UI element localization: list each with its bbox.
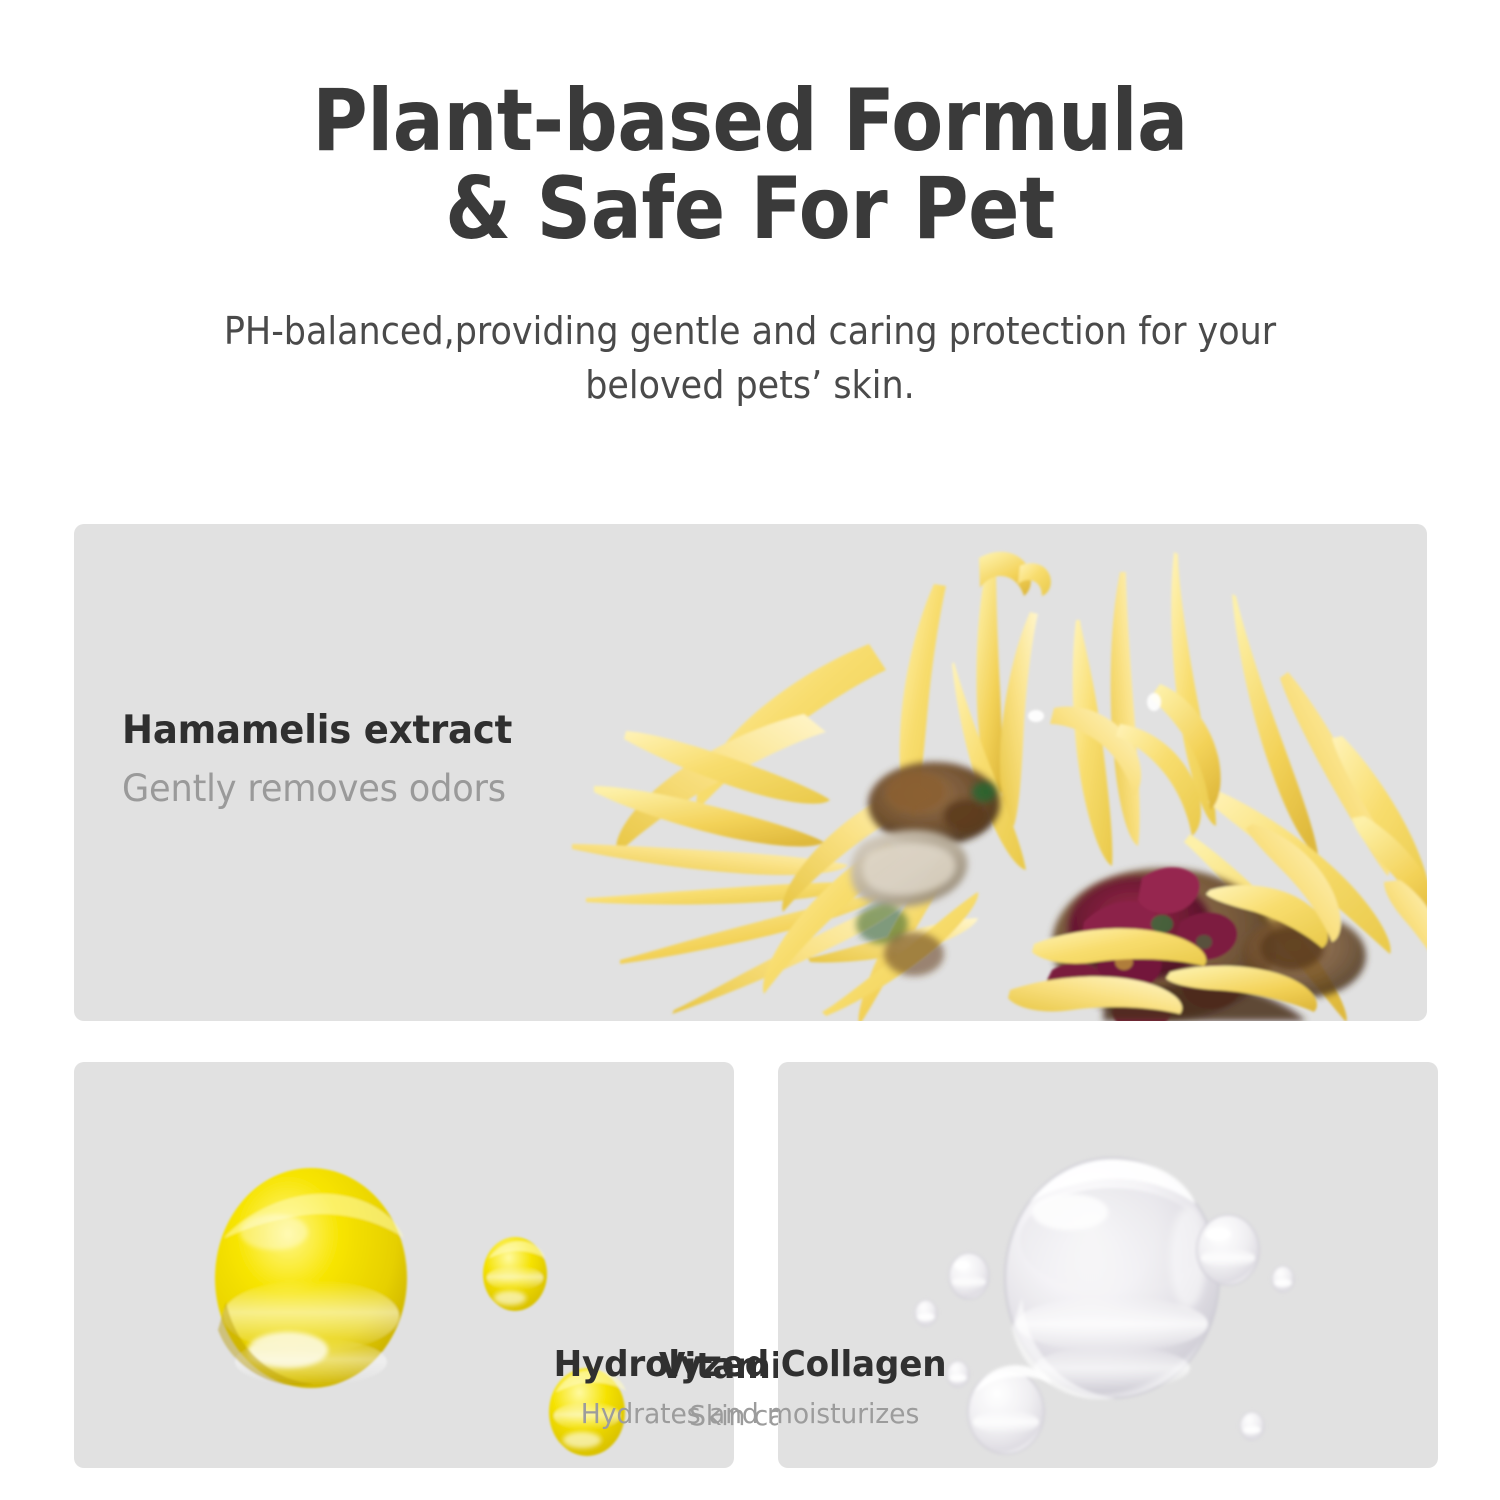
hamamelis-flower-image	[564, 524, 1427, 1021]
page-title: Plant-based Formula & Safe For Pet	[90, 78, 1410, 253]
page-subtitle: PH-balanced,providing gentle and caring …	[60, 305, 1440, 413]
hamamelis-caption: Hamamelis extract Gently removes odors	[122, 708, 533, 810]
header: Plant-based Formula & Safe For Pet PH-ba…	[0, 0, 1500, 413]
hamamelis-title: Hamamelis extract	[122, 708, 512, 753]
collagen-caption: Hydrolyzed Collagen Hydrates and moistur…	[0, 1344, 1500, 1430]
hamamelis-subtitle: Gently removes odors	[122, 767, 512, 810]
collagen-title: Hydrolyzed Collagen	[38, 1344, 1463, 1385]
card-hamamelis: Hamamelis extract Gently removes odors	[74, 524, 1427, 1021]
infographic-page: Plant-based Formula & Safe For Pet PH-ba…	[0, 0, 1500, 1500]
collagen-subtitle: Hydrates and moisturizes	[38, 1397, 1463, 1430]
